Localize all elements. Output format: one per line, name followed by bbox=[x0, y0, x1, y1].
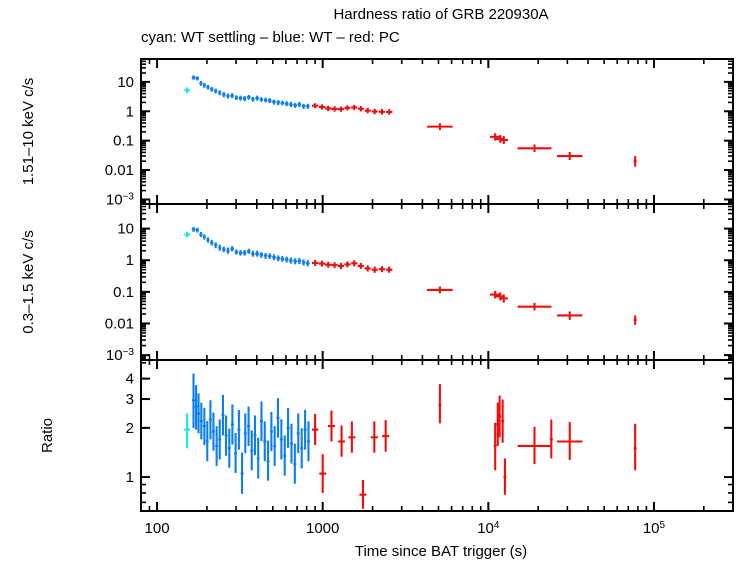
plot-canvas: Hardness ratio of GRB 220930A cyan: WT s… bbox=[0, 0, 742, 566]
data-point bbox=[200, 403, 203, 440]
data-point bbox=[634, 315, 637, 325]
data-point bbox=[293, 444, 296, 484]
data-point bbox=[195, 385, 198, 430]
x-axis-label: Time since BAT trigger (s) bbox=[355, 543, 527, 560]
data-point bbox=[203, 83, 206, 88]
data-point bbox=[218, 419, 221, 459]
data-point bbox=[307, 421, 310, 461]
data-point bbox=[283, 435, 286, 475]
data-point bbox=[192, 373, 195, 427]
data-point bbox=[290, 424, 293, 464]
data-point bbox=[228, 429, 231, 468]
data-point bbox=[494, 423, 497, 471]
data-point bbox=[550, 419, 553, 458]
y-tick-label: 1 bbox=[126, 103, 134, 120]
x-tick-label: 100 bbox=[145, 520, 170, 537]
data-point bbox=[206, 85, 209, 90]
data-point bbox=[253, 415, 256, 455]
data-point bbox=[221, 395, 224, 435]
data-point bbox=[438, 384, 441, 423]
y-axis-label-soft-band: 0.3–1.5 keV c/s bbox=[20, 230, 37, 333]
data-point bbox=[247, 407, 250, 446]
data-point bbox=[501, 400, 504, 443]
data-point bbox=[244, 413, 247, 453]
data-point bbox=[267, 441, 270, 481]
data-point bbox=[498, 396, 501, 438]
data-point bbox=[276, 398, 279, 438]
data-point bbox=[260, 401, 263, 441]
data-point bbox=[280, 419, 283, 459]
data-point bbox=[206, 421, 209, 461]
data-point bbox=[634, 156, 637, 167]
y-axis-label-ratio: Ratio bbox=[39, 418, 56, 453]
data-point bbox=[273, 426, 276, 466]
page-title: Hardness ratio of GRB 220930A bbox=[333, 6, 548, 23]
data-point bbox=[237, 410, 240, 450]
data-point bbox=[231, 404, 234, 444]
y-axis-label-hard-band: 1.51–10 keV c/s bbox=[20, 78, 37, 186]
legend-subtitle: cyan: WT settling – blue: WT – red: PC bbox=[141, 29, 400, 46]
y-tick-label: 10 bbox=[117, 221, 134, 238]
data-point bbox=[270, 412, 273, 451]
data-point bbox=[197, 393, 200, 433]
data-point bbox=[209, 400, 212, 439]
data-point bbox=[203, 234, 206, 239]
data-point bbox=[241, 453, 244, 494]
data-point bbox=[212, 413, 215, 451]
data-point bbox=[234, 433, 237, 473]
y-tick-label: 0.1 bbox=[113, 133, 134, 150]
y-tick-label: 2 bbox=[126, 420, 134, 437]
data-point bbox=[634, 424, 637, 471]
y-tick-label: 1 bbox=[126, 252, 134, 269]
data-point bbox=[203, 408, 206, 445]
data-point bbox=[304, 410, 307, 450]
y-tick-label: 3 bbox=[126, 391, 134, 408]
canvas-background bbox=[0, 0, 742, 566]
hardness-ratio-figure: Hardness ratio of GRB 220930A cyan: WT s… bbox=[0, 0, 742, 566]
y-tick-label: 0.01 bbox=[105, 162, 134, 179]
y-tick-label: 1 bbox=[126, 469, 134, 486]
data-point bbox=[225, 415, 228, 455]
data-point bbox=[503, 458, 506, 494]
x-tick-label: 1000 bbox=[306, 520, 339, 537]
data-point bbox=[215, 426, 218, 466]
data-point bbox=[263, 421, 266, 461]
y-tick-label: 0.1 bbox=[113, 284, 134, 301]
y-tick-label: 4 bbox=[126, 371, 134, 388]
data-point bbox=[257, 438, 260, 479]
y-tick-label: 0.01 bbox=[105, 315, 134, 332]
y-tick-label: 10 bbox=[117, 74, 134, 91]
data-point bbox=[250, 430, 253, 470]
data-point bbox=[206, 237, 209, 242]
